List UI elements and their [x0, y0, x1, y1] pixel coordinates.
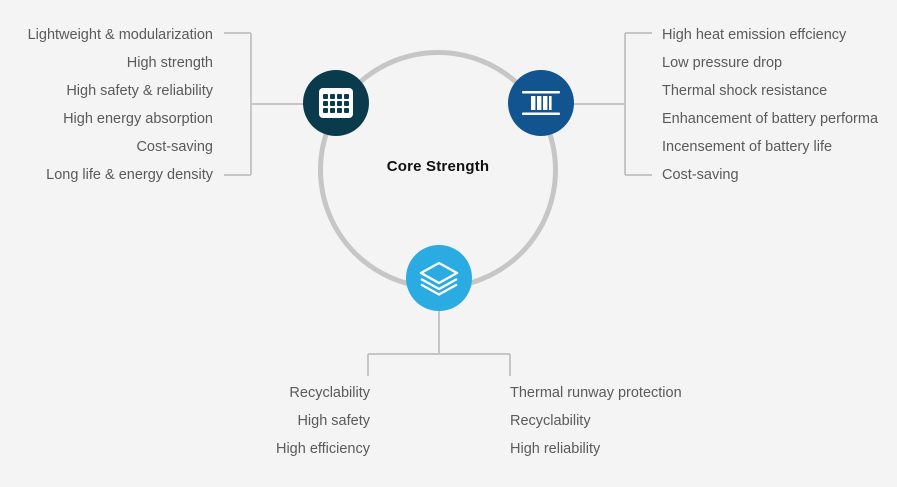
list-item: High efficiency: [180, 435, 370, 463]
heat-exchanger-icon: [522, 88, 560, 118]
list-item: High safety: [180, 407, 370, 435]
list-item: Thermal runway protection: [510, 379, 682, 407]
list-item: Recyclability: [510, 407, 682, 435]
list-material-right: Thermal runway protection Recyclability …: [510, 379, 682, 463]
list-item: High strength: [0, 49, 213, 77]
list-item: Incensement of battery life: [662, 133, 878, 161]
node-structure[interactable]: [303, 70, 369, 136]
list-item: High heat emission effciency: [662, 21, 878, 49]
list-thermal: High heat emission effciency Low pressur…: [662, 21, 878, 189]
list-item: Low pressure drop: [662, 49, 878, 77]
list-item: Enhancement of battery performa: [662, 105, 878, 133]
list-structure: Lightweight & modularization High streng…: [0, 21, 213, 189]
grid-cells-icon: [319, 88, 353, 118]
list-item: Long life & energy density: [0, 161, 213, 189]
core-label: Core Strength: [338, 158, 538, 175]
list-item: Cost-saving: [662, 161, 878, 189]
list-material-left: Recyclability High safety High efficienc…: [180, 379, 370, 463]
list-item: Cost-saving: [0, 133, 213, 161]
list-item: High safety & reliability: [0, 77, 213, 105]
list-item: Lightweight & modularization: [0, 21, 213, 49]
core-strength-diagram: Core Strength: [0, 0, 897, 487]
list-item: Recyclability: [180, 379, 370, 407]
list-item: High energy absorption: [0, 105, 213, 133]
node-material[interactable]: [406, 245, 472, 311]
stacked-layers-icon: [418, 260, 460, 296]
list-item: Thermal shock resistance: [662, 77, 878, 105]
list-item: High reliability: [510, 435, 682, 463]
node-thermal[interactable]: [508, 70, 574, 136]
